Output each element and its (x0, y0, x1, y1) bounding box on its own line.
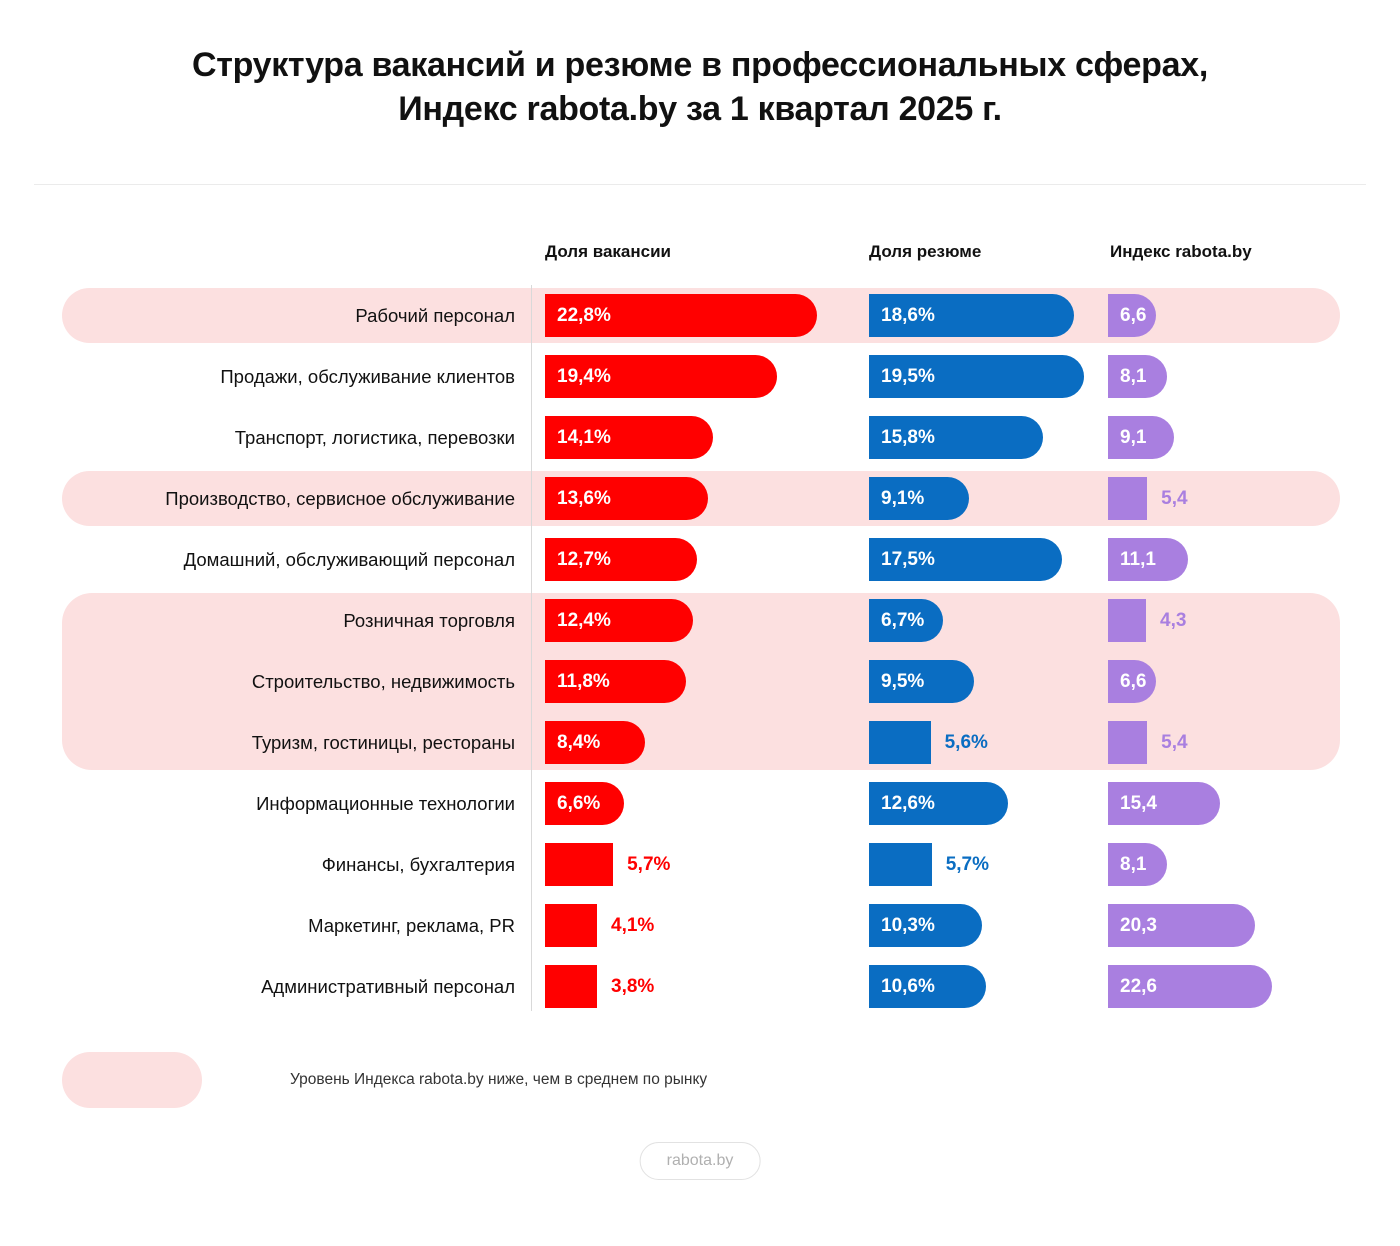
bar-value-label: 9,1 (1108, 427, 1146, 449)
row-category-label: Производство, сервисное обслуживание (60, 468, 515, 529)
chart-row: Маркетинг, реклама, PR4,1%10,3%20,3 (0, 895, 1400, 956)
bar-vac: 11,8% (545, 660, 686, 703)
bar-vac: 6,6% (545, 782, 624, 825)
bar-res: 9,1% (869, 477, 969, 520)
chart-row: Строительство, недвижимость11,8%9,5%6,6 (0, 651, 1400, 712)
chart-row: Продажи, обслуживание клиентов19,4%19,5%… (0, 346, 1400, 407)
chart-row: Информационные технологии6,6%12,6%15,4 (0, 773, 1400, 834)
bar-idx: 20,3 (1108, 904, 1255, 947)
bar-value-label: 3,8% (611, 965, 654, 1008)
bar-value-label: 19,4% (545, 366, 611, 388)
chart-row: Финансы, бухгалтерия5,7%5,7%8,1 (0, 834, 1400, 895)
bar-value-label: 14,1% (545, 427, 611, 449)
bar-vac (545, 904, 597, 947)
bar-value-label: 9,1% (869, 488, 924, 510)
bar-idx: 15,4 (1108, 782, 1220, 825)
row-category-label: Рабочий персонал (60, 285, 515, 346)
bar-value-label: 4,3 (1160, 599, 1186, 642)
bar-value-label: 9,5% (869, 671, 924, 693)
bar-value-label: 22,8% (545, 305, 611, 327)
row-category-label: Транспорт, логистика, перевозки (60, 407, 515, 468)
title-divider (34, 184, 1366, 185)
column-headers: Доля вакансии Доля резюме Индекс rabota.… (0, 242, 1400, 272)
bar-res: 6,7% (869, 599, 943, 642)
chart-body: Рабочий персонал22,8%18,6%6,6Продажи, об… (0, 285, 1400, 1017)
bar-value-label: 5,7% (627, 843, 670, 886)
footer-brand-badge: rabota.by (640, 1142, 761, 1180)
bar-res: 12,6% (869, 782, 1008, 825)
row-category-label: Административный персонал (60, 956, 515, 1017)
bar-vac: 13,6% (545, 477, 708, 520)
bar-vac: 12,7% (545, 538, 697, 581)
bar-value-label: 6,6 (1108, 671, 1146, 693)
bar-idx: 11,1 (1108, 538, 1188, 581)
legend: Уровень Индекса rabota.by ниже, чем в ср… (62, 1052, 1062, 1108)
bar-idx: 6,6 (1108, 660, 1156, 703)
chart-row: Рабочий персонал22,8%18,6%6,6 (0, 285, 1400, 346)
row-category-label: Информационные технологии (60, 773, 515, 834)
bar-idx: 6,6 (1108, 294, 1156, 337)
bar-value-label: 11,8% (545, 671, 610, 693)
bar-res: 9,5% (869, 660, 974, 703)
bar-value-label: 8,1 (1108, 366, 1146, 388)
bar-vac: 14,1% (545, 416, 713, 459)
bar-idx (1108, 599, 1146, 642)
bar-vac: 22,8% (545, 294, 817, 337)
chart-row: Туризм, гостиницы, рестораны8,4%5,6%5,4 (0, 712, 1400, 773)
column-header-index: Индекс rabota.by (1110, 242, 1252, 262)
row-category-label: Туризм, гостиницы, рестораны (60, 712, 515, 773)
bar-res: 19,5% (869, 355, 1084, 398)
bar-vac: 8,4% (545, 721, 645, 764)
bar-idx: 8,1 (1108, 843, 1167, 886)
bar-value-label: 17,5% (869, 549, 935, 571)
bar-res (869, 721, 931, 764)
bar-idx: 22,6 (1108, 965, 1272, 1008)
bar-value-label: 4,1% (611, 904, 654, 947)
bar-value-label: 19,5% (869, 366, 935, 388)
chart-row: Домашний, обслуживающий персонал12,7%17,… (0, 529, 1400, 590)
bar-res: 18,6% (869, 294, 1074, 337)
chart-row: Транспорт, логистика, перевозки14,1%15,8… (0, 407, 1400, 468)
row-category-label: Строительство, недвижимость (60, 651, 515, 712)
bar-value-label: 18,6% (869, 305, 935, 327)
chart-row: Административный персонал3,8%10,6%22,6 (0, 956, 1400, 1017)
bar-value-label: 5,7% (946, 843, 989, 886)
bar-res: 17,5% (869, 538, 1062, 581)
row-category-label: Продажи, обслуживание клиентов (60, 346, 515, 407)
title-line-2: Индекс rabota.by за 1 квартал 2025 г. (70, 88, 1330, 132)
bar-value-label: 6,6% (545, 793, 600, 815)
bar-res: 15,8% (869, 416, 1043, 459)
bar-value-label: 11,1 (1108, 549, 1156, 571)
bar-res (869, 843, 932, 886)
chart-page: Структура вакансий и резюме в профессион… (0, 0, 1400, 1246)
bar-idx: 8,1 (1108, 355, 1167, 398)
column-header-resume: Доля резюме (869, 242, 981, 262)
legend-label-below-market: Уровень Индекса rabota.by ниже, чем в ср… (290, 1052, 707, 1108)
bar-value-label: 12,4% (545, 610, 611, 632)
bar-value-label: 10,6% (869, 976, 935, 998)
bar-vac: 19,4% (545, 355, 777, 398)
chart-row: Розничная торговля12,4%6,7%4,3 (0, 590, 1400, 651)
bar-idx: 9,1 (1108, 416, 1174, 459)
column-header-vacancy: Доля вакансии (545, 242, 671, 262)
bar-res: 10,3% (869, 904, 982, 947)
bar-value-label: 6,7% (869, 610, 924, 632)
bar-res: 10,6% (869, 965, 986, 1008)
bar-value-label: 22,6 (1108, 976, 1157, 998)
bar-value-label: 5,4 (1161, 477, 1187, 520)
bar-value-label: 15,8% (869, 427, 935, 449)
row-category-label: Маркетинг, реклама, PR (60, 895, 515, 956)
bar-vac (545, 965, 597, 1008)
row-category-label: Розничная торговля (60, 590, 515, 651)
row-category-label: Домашний, обслуживающий персонал (60, 529, 515, 590)
bar-value-label: 6,6 (1108, 305, 1146, 327)
bar-value-label: 8,1 (1108, 854, 1146, 876)
bar-value-label: 12,7% (545, 549, 611, 571)
bar-value-label: 20,3 (1108, 915, 1157, 937)
bar-idx (1108, 721, 1147, 764)
bar-value-label: 12,6% (869, 793, 935, 815)
title-line-1: Структура вакансий и резюме в профессион… (70, 44, 1330, 88)
bar-value-label: 5,4 (1161, 721, 1187, 764)
bar-value-label: 13,6% (545, 488, 611, 510)
chart-row: Производство, сервисное обслуживание13,6… (0, 468, 1400, 529)
bar-idx (1108, 477, 1147, 520)
bar-vac (545, 843, 613, 886)
legend-swatch-below-market (62, 1052, 202, 1108)
bar-vac: 12,4% (545, 599, 693, 642)
bar-value-label: 8,4% (545, 732, 600, 754)
page-title: Структура вакансий и резюме в профессион… (0, 44, 1400, 131)
bar-value-label: 5,6% (945, 721, 988, 764)
bar-value-label: 10,3% (869, 915, 935, 937)
row-category-label: Финансы, бухгалтерия (60, 834, 515, 895)
bar-value-label: 15,4 (1108, 793, 1157, 815)
